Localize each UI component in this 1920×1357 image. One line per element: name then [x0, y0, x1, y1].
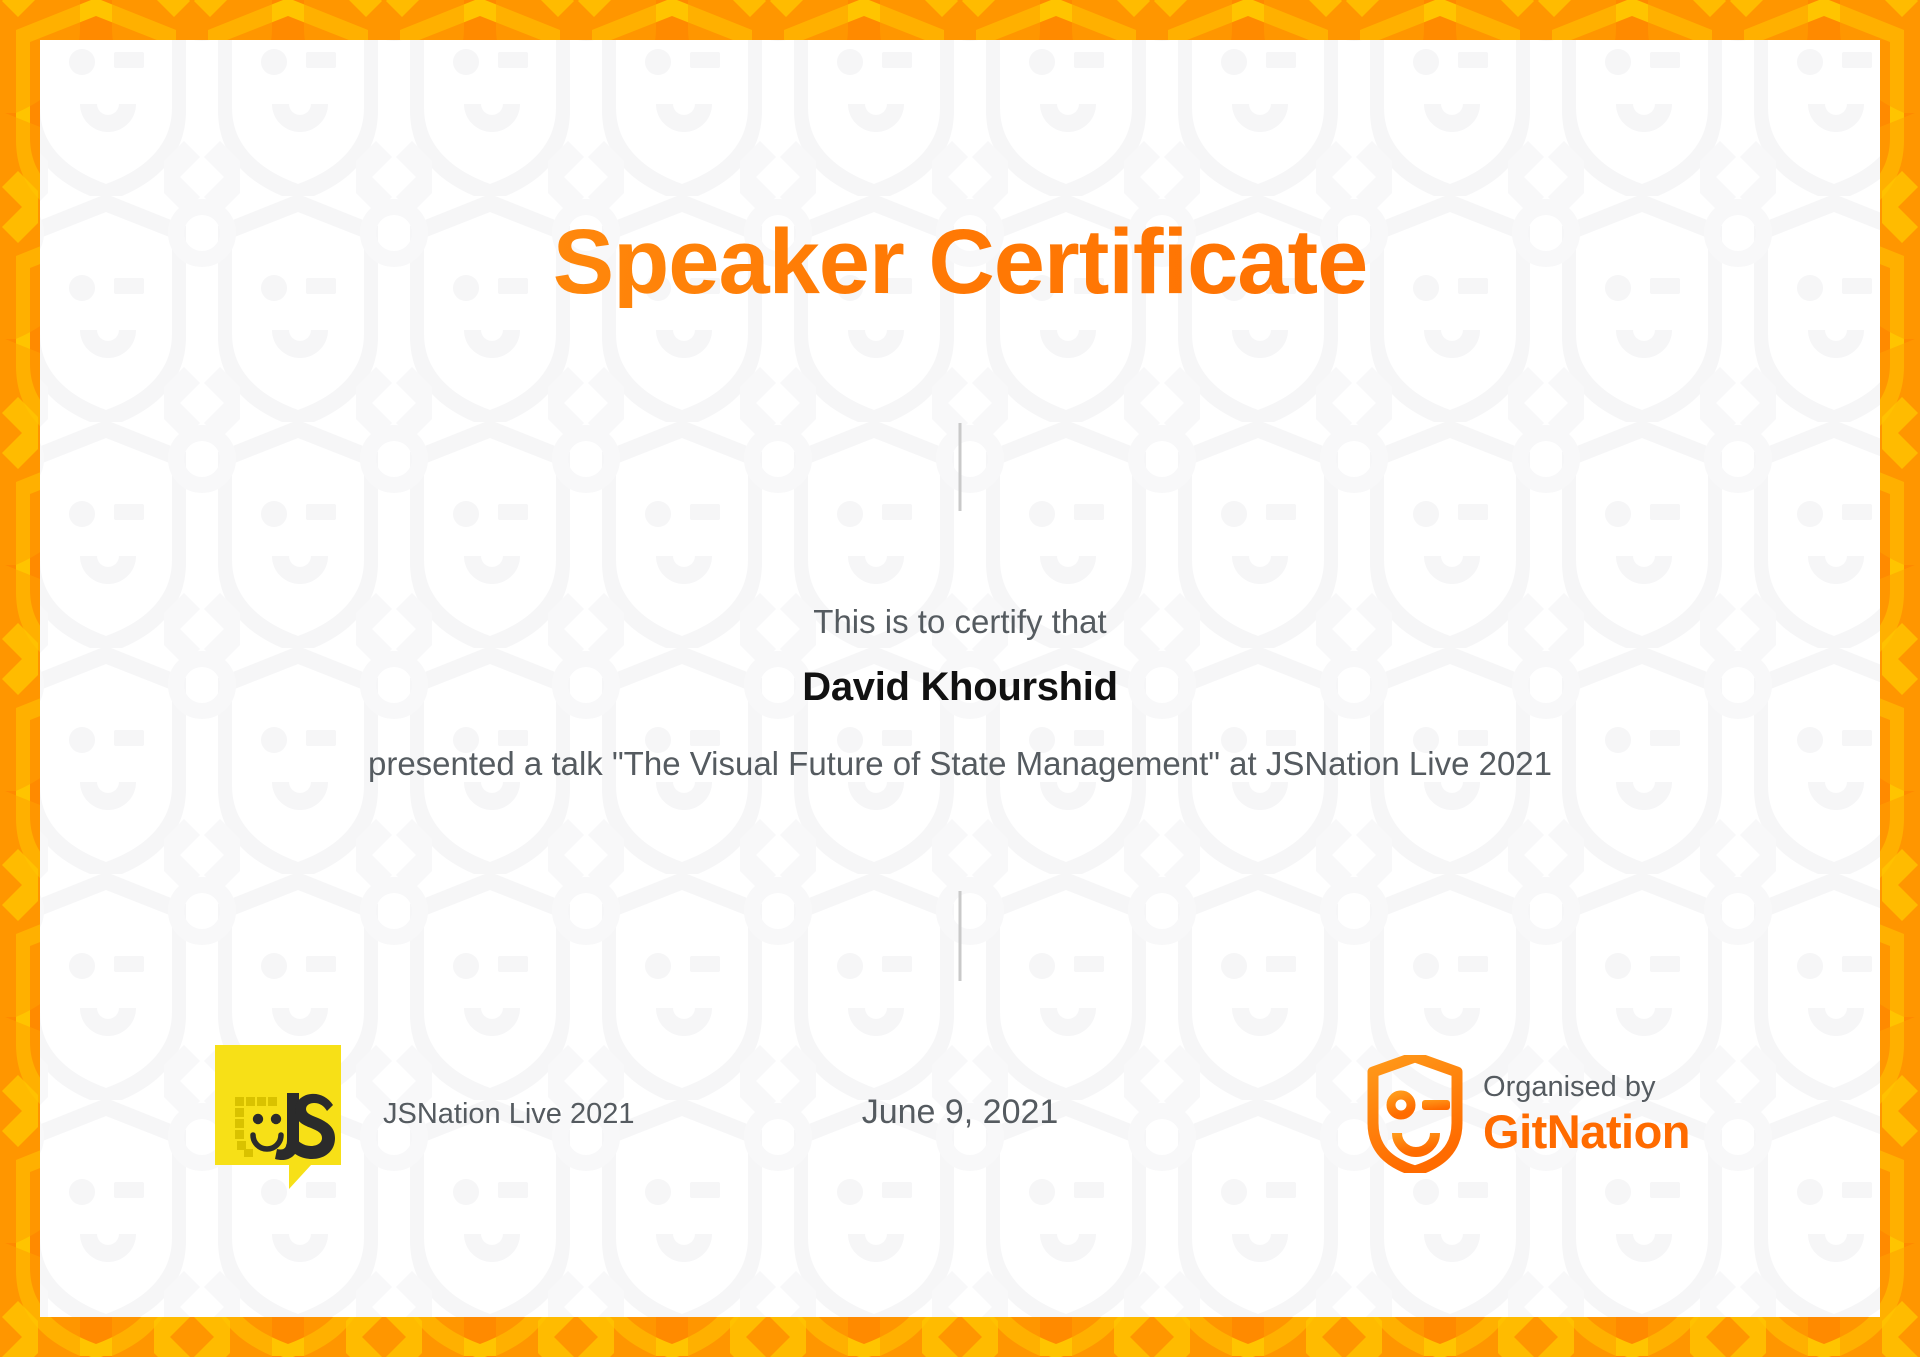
certificate-footer: JSNation Live 2021 June 9, 2021	[40, 1045, 1880, 1205]
certificate-title: Speaker Certificate	[40, 216, 1880, 308]
organiser-block: Organised by GitNation	[1367, 1055, 1690, 1173]
certificate-root: Speaker Certificate This is to certify t…	[0, 0, 1920, 1357]
divider-bottom	[959, 891, 962, 981]
organised-by-label: Organised by	[1483, 1072, 1690, 1102]
divider-top	[959, 423, 962, 511]
recipient-name: David Khourshid	[40, 665, 1880, 710]
gitnation-wordmark: GitNation	[1483, 1107, 1690, 1156]
gitnation-shield-mask-icon	[1367, 1055, 1463, 1173]
talk-description: presented a talk "The Visual Future of S…	[40, 745, 1880, 783]
certify-line: This is to certify that	[40, 603, 1880, 641]
organiser-text: Organised by GitNation	[1483, 1072, 1690, 1156]
certificate-card: Speaker Certificate This is to certify t…	[40, 40, 1880, 1317]
